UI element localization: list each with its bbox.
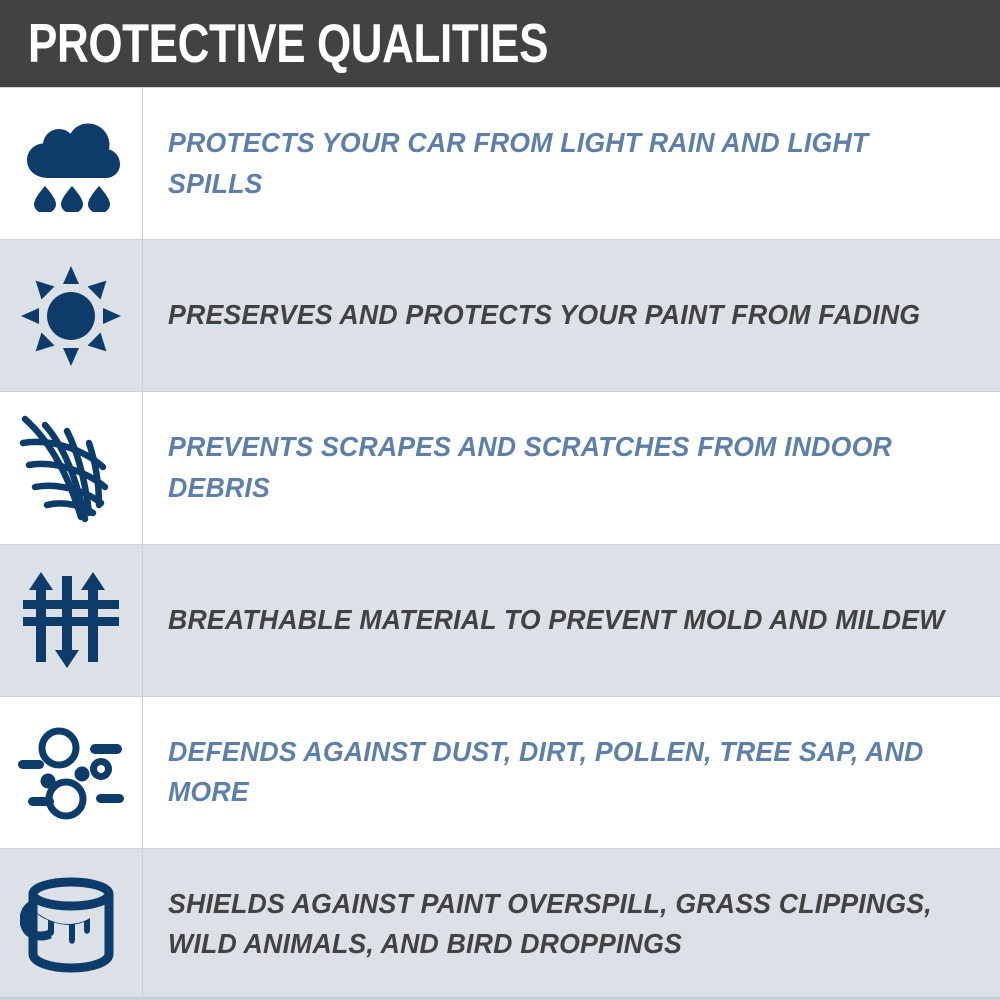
list-item-label: PRESERVES AND PROTECTS YOUR PAINT FROM F… bbox=[168, 295, 920, 336]
text-cell: DEFENDS AGAINST DUST, DIRT, POLLEN, TREE… bbox=[143, 697, 1000, 848]
sun-icon bbox=[21, 266, 121, 366]
icon-cell bbox=[0, 697, 143, 848]
icon-cell bbox=[0, 392, 143, 543]
text-cell: BREATHABLE MATERIAL TO PREVENT MOLD AND … bbox=[143, 545, 1000, 696]
paint-bucket-icon bbox=[20, 874, 122, 974]
rain-cloud-icon bbox=[19, 116, 123, 212]
icon-cell bbox=[0, 545, 143, 696]
icon-cell bbox=[0, 240, 143, 391]
list-item-label: SHIELDS AGAINST PAINT OVERSPILL, GRASS C… bbox=[168, 884, 950, 965]
list-item: PROTECTS YOUR CAR FROM LIGHT RAIN AND LI… bbox=[0, 88, 1000, 239]
feature-list: PROTECTS YOUR CAR FROM LIGHT RAIN AND LI… bbox=[0, 88, 1000, 1000]
mesh-net-icon bbox=[19, 413, 123, 523]
panel-header: PROTECTIVE QUALITIES bbox=[0, 0, 1000, 88]
page-title: PROTECTIVE QUALITIES bbox=[28, 16, 548, 71]
breathable-airflow-icon bbox=[19, 570, 123, 670]
text-cell: PRESERVES AND PROTECTS YOUR PAINT FROM F… bbox=[143, 240, 1000, 391]
list-item: DEFENDS AGAINST DUST, DIRT, POLLEN, TREE… bbox=[0, 696, 1000, 848]
icon-cell bbox=[0, 849, 143, 1000]
icon-cell bbox=[0, 88, 143, 239]
text-cell: PROTECTS YOUR CAR FROM LIGHT RAIN AND LI… bbox=[143, 88, 1000, 239]
protective-qualities-panel: PROTECTIVE QUALITIES PROTECTS YOUR CAR F… bbox=[0, 0, 1000, 1000]
list-item-label: DEFENDS AGAINST DUST, DIRT, POLLEN, TREE… bbox=[168, 732, 950, 813]
list-item: SHIELDS AGAINST PAINT OVERSPILL, GRASS C… bbox=[0, 848, 1000, 1000]
text-cell: PREVENTS SCRAPES AND SCRATCHES FROM INDO… bbox=[143, 392, 1000, 543]
list-item: PREVENTS SCRAPES AND SCRATCHES FROM INDO… bbox=[0, 391, 1000, 543]
dust-particles-icon bbox=[16, 724, 126, 820]
list-item-label: PROTECTS YOUR CAR FROM LIGHT RAIN AND LI… bbox=[168, 123, 950, 204]
list-item: PRESERVES AND PROTECTS YOUR PAINT FROM F… bbox=[0, 239, 1000, 391]
list-item-label: PREVENTS SCRAPES AND SCRATCHES FROM INDO… bbox=[168, 427, 950, 508]
list-item: BREATHABLE MATERIAL TO PREVENT MOLD AND … bbox=[0, 544, 1000, 696]
text-cell: SHIELDS AGAINST PAINT OVERSPILL, GRASS C… bbox=[143, 849, 1000, 1000]
list-item-label: BREATHABLE MATERIAL TO PREVENT MOLD AND … bbox=[168, 600, 945, 641]
